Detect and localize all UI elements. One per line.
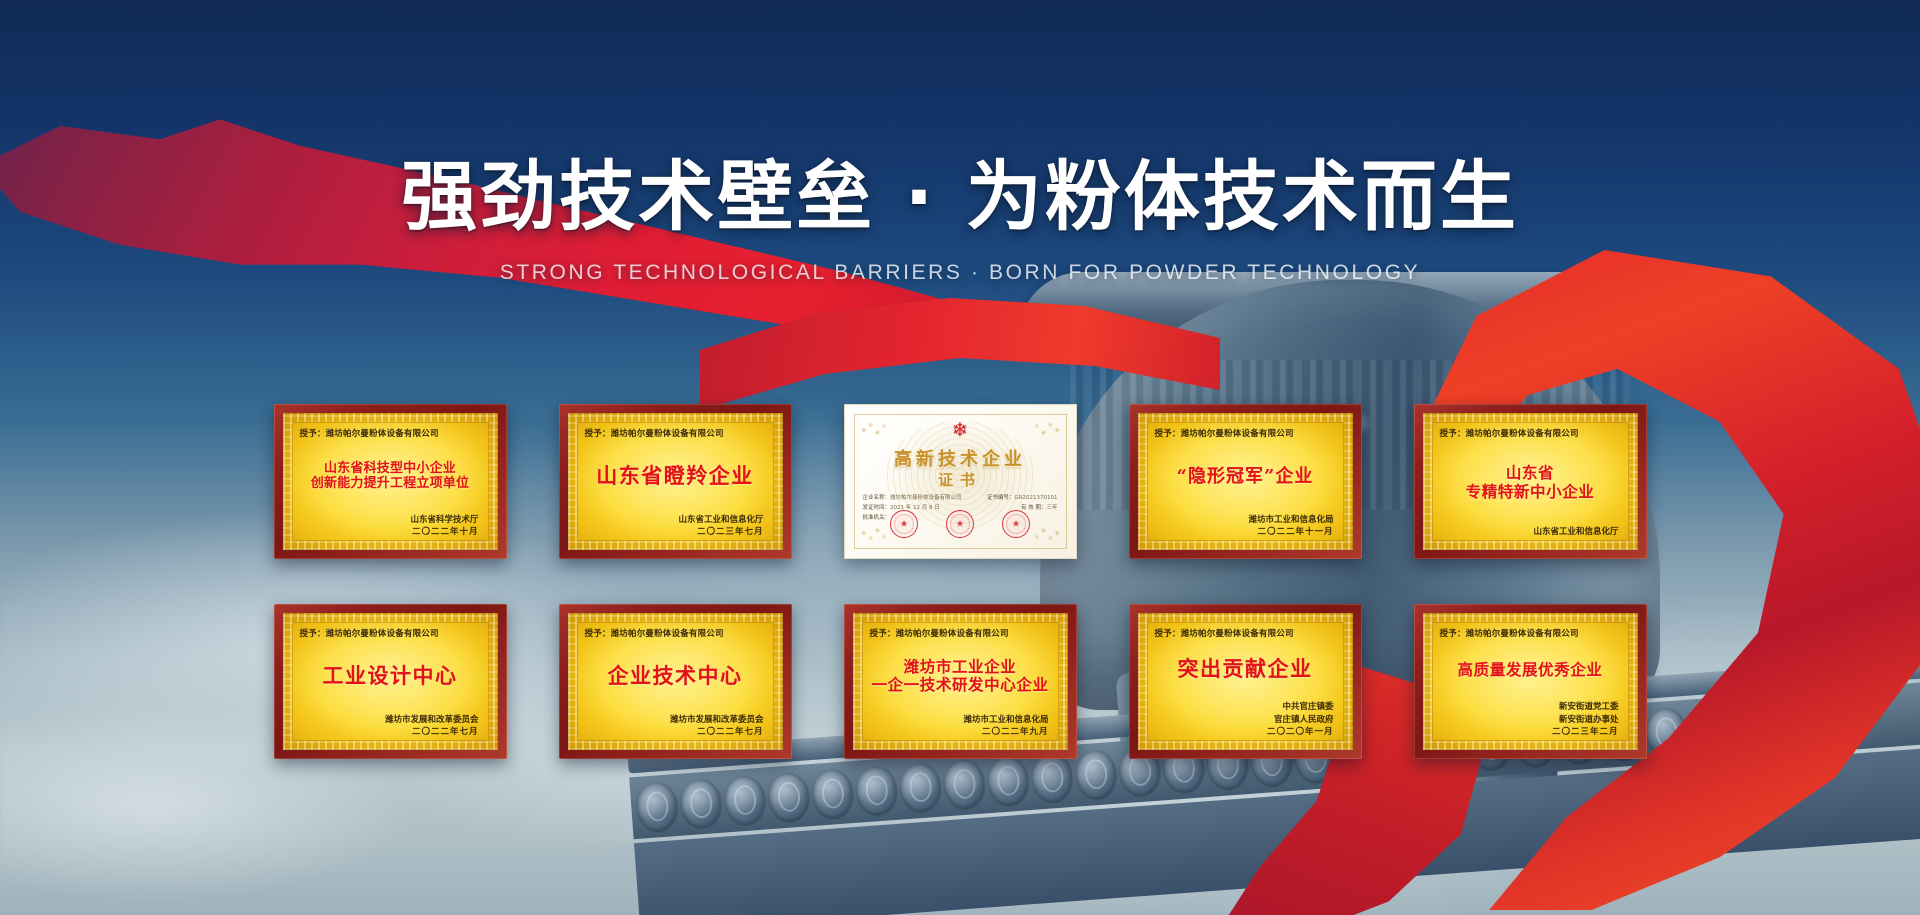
awards-gallery: 授予：潍坊帕尔曼粉体设备有限公司 山东省科技型中小企业 创新能力提升工程立项单位… <box>0 404 1920 759</box>
plaque-issuer-line-1: 潍坊市发展和改革委员会 <box>296 714 479 727</box>
plaque-title-line-1: 企业技术中心 <box>608 664 743 689</box>
medallion-carving <box>811 768 854 819</box>
plaque-issuer-line-1: 潍坊市发展和改革委员会 <box>581 714 764 727</box>
page-subtitle: STRONG TECHNOLOGICAL BARRIERS · BORN FOR… <box>0 261 1920 285</box>
plaque-title: 高质量发展优秀企业 <box>1436 639 1625 701</box>
medallion-carving <box>899 762 942 813</box>
plaque-issuer-line-1: 潍坊市工业和信息化局 <box>1151 514 1334 527</box>
certificate-title: 高新技术企业 <box>845 445 1076 471</box>
plaque-issuer-line-1: 潍坊市工业和信息化局 <box>866 714 1049 727</box>
field-certificate-number: 证书编号：GR2021370101 <box>987 493 1058 503</box>
plaque-title-line-1: 潍坊市工业企业 <box>904 658 1017 676</box>
medallion-carving <box>943 758 986 809</box>
plaque-title: 突出贡献企业 <box>1151 639 1340 701</box>
certificate-subtitle: 证书 <box>845 469 1076 490</box>
award-plaque[interactable]: 授予：潍坊帕尔曼粉体设备有限公司 山东省 专精特新中小企业 山东省工业和信息化厅 <box>1414 404 1647 559</box>
plaque-title-line-1: 山东省科技型中小企业 <box>324 461 456 476</box>
plaque-issuer-line-2: 官庄镇人民政府 <box>1151 714 1334 727</box>
plaque-grant-line: 授予：潍坊帕尔曼粉体设备有限公司 <box>300 427 485 439</box>
plaque-issuer-line-1: 新安街道党工委 <box>1436 701 1619 714</box>
medallion-carving <box>636 781 679 832</box>
medallion-carving <box>723 775 766 826</box>
plaque-title-line-1: 山东省瞪羚企业 <box>596 464 754 489</box>
field-company-name: 企业名称：潍坊帕尔曼粉体设备有限公司 <box>863 493 962 503</box>
plaque-title-line-1: 工业设计中心 <box>323 664 458 689</box>
plaque-grant-line: 授予：潍坊帕尔曼粉体设备有限公司 <box>1440 627 1625 639</box>
plaque-title-line-1: 山东省 <box>1506 464 1554 482</box>
plaque-gold-plate: 授予：潍坊帕尔曼粉体设备有限公司 高质量发展优秀企业 新安街道党工委 新安街道办… <box>1423 613 1638 750</box>
award-plaque[interactable]: 授予：潍坊帕尔曼粉体设备有限公司 高质量发展优秀企业 新安街道党工委 新安街道办… <box>1414 604 1647 759</box>
page-title: 强劲技术壁垒 · 为粉体技术而生 <box>0 155 1920 239</box>
award-plaque[interactable]: 授予：潍坊帕尔曼粉体设备有限公司 山东省科技型中小企业 创新能力提升工程立项单位… <box>274 404 507 559</box>
plaque-title-line-2: 专精特新中小企业 <box>1466 483 1595 501</box>
medallion-carving <box>987 755 1030 806</box>
plaque-title-line-1: 高质量发展优秀企业 <box>1458 661 1603 679</box>
plaque-date: 二〇二二年七月 <box>581 726 764 739</box>
plaque-grant-line: 授予：潍坊帕尔曼粉体设备有限公司 <box>1155 427 1340 439</box>
plaque-date: 二〇二〇年一月 <box>1151 726 1334 739</box>
wheat-ornament-icon <box>1030 417 1064 443</box>
plaque-date: 二〇二二年十月 <box>296 526 479 539</box>
plaque-issuer-block: 山东省科学技术厅 二〇二二年十月 <box>296 514 479 540</box>
plaque-title: 企业技术中心 <box>581 639 770 714</box>
plaque-issuer-line-1: 山东省工业和信息化厅 <box>581 514 764 527</box>
plaque-issuer-block: 潍坊市工业和信息化局 二〇二二年九月 <box>866 714 1049 740</box>
award-plaque[interactable]: 授予：潍坊帕尔曼粉体设备有限公司 潍坊市工业企业 一企一技术研发中心企业 潍坊市… <box>844 604 1077 759</box>
plaque-gold-plate: 授予：潍坊帕尔曼粉体设备有限公司 工业设计中心 潍坊市发展和改革委员会 二〇二二… <box>283 613 498 750</box>
plaque-title: 山东省瞪羚企业 <box>581 439 770 514</box>
official-seal-icon <box>1002 510 1030 538</box>
plaque-title-line-1: 突出贡献企业 <box>1178 657 1313 682</box>
awards-row-top: 授予：潍坊帕尔曼粉体设备有限公司 山东省科技型中小企业 创新能力提升工程立项单位… <box>274 404 1647 559</box>
award-plaque[interactable]: 授予：潍坊帕尔曼粉体设备有限公司 工业设计中心 潍坊市发展和改革委员会 二〇二二… <box>274 604 507 759</box>
plaque-gold-plate: 授予：潍坊帕尔曼粉体设备有限公司 山东省 专精特新中小企业 山东省工业和信息化厅 <box>1423 413 1638 550</box>
plaque-issuer-block: 山东省工业和信息化厅 <box>1436 526 1619 539</box>
plaque-gold-plate: 授予：潍坊帕尔曼粉体设备有限公司 突出贡献企业 中共官庄镇委 官庄镇人民政府 二… <box>1138 613 1353 750</box>
awards-row-bottom: 授予：潍坊帕尔曼粉体设备有限公司 工业设计中心 潍坊市发展和改革委员会 二〇二二… <box>274 604 1647 759</box>
plaque-title: 潍坊市工业企业 一企一技术研发中心企业 <box>866 639 1055 714</box>
award-plaque[interactable]: 授予：潍坊帕尔曼粉体设备有限公司 突出贡献企业 中共官庄镇委 官庄镇人民政府 二… <box>1129 604 1362 759</box>
plaque-issuer-block: 潍坊市发展和改革委员会 二〇二二年七月 <box>581 714 764 740</box>
medallion-carving <box>1031 752 1074 803</box>
plaque-grant-line: 授予：潍坊帕尔曼粉体设备有限公司 <box>870 627 1055 639</box>
flame-emblem-icon: ❄ <box>952 421 968 440</box>
award-plaque[interactable]: 授予：潍坊帕尔曼粉体设备有限公司 山东省瞪羚企业 山东省工业和信息化厅 二〇二三… <box>559 404 792 559</box>
plaque-date: 二〇二三年二月 <box>1436 726 1619 739</box>
plaque-gold-plate: 授予：潍坊帕尔曼粉体设备有限公司 企业技术中心 潍坊市发展和改革委员会 二〇二二… <box>568 613 783 750</box>
medallion-carving <box>767 771 810 822</box>
plaque-title: 山东省科技型中小企业 创新能力提升工程立项单位 <box>296 439 485 514</box>
plaque-issuer-line-1: 中共官庄镇委 <box>1151 701 1334 714</box>
plaque-issuer-line-1: 山东省工业和信息化厅 <box>1436 526 1619 539</box>
plaque-issuer-line-1: 山东省科学技术厅 <box>296 514 479 527</box>
plaque-title: 山东省 专精特新中小企业 <box>1436 439 1625 526</box>
wheat-ornament-icon <box>857 417 891 443</box>
plaque-gold-plate: 授予：潍坊帕尔曼粉体设备有限公司 山东省科技型中小企业 创新能力提升工程立项单位… <box>283 413 498 550</box>
plaque-gold-plate: 授予：潍坊帕尔曼粉体设备有限公司 山东省瞪羚企业 山东省工业和信息化厅 二〇二三… <box>568 413 783 550</box>
medallion-carving <box>680 778 723 829</box>
plaque-title-line-1: “隐形冠军”企业 <box>1177 466 1314 487</box>
banner-stage: 强劲技术壁垒 · 为粉体技术而生 STRONG TECHNOLOGICAL BA… <box>0 0 1920 915</box>
certificate-seal-row <box>845 510 1076 538</box>
plaque-date: 二〇二二年九月 <box>866 726 1049 739</box>
plaque-title-line-2: 创新能力提升工程立项单位 <box>311 476 469 491</box>
plaque-title-line-2: 一企一技术研发中心企业 <box>871 676 1048 694</box>
plaque-grant-line: 授予：潍坊帕尔曼粉体设备有限公司 <box>300 627 485 639</box>
plaque-grant-line: 授予：潍坊帕尔曼粉体设备有限公司 <box>585 627 770 639</box>
plaque-gold-plate: 授予：潍坊帕尔曼粉体设备有限公司 潍坊市工业企业 一企一技术研发中心企业 潍坊市… <box>853 613 1068 750</box>
plaque-issuer-block: 中共官庄镇委 官庄镇人民政府 二〇二〇年一月 <box>1151 701 1334 739</box>
high-tech-enterprise-certificate[interactable]: ❄ 高新技术企业 证书 企业名称：潍坊帕尔曼粉体设备有限公司 证书编号：GR20… <box>844 404 1077 559</box>
plaque-issuer-block: 潍坊市工业和信息化局 二〇二二年十一月 <box>1151 514 1334 540</box>
plaque-date: 二〇二三年七月 <box>581 526 764 539</box>
plaque-issuer-block: 潍坊市发展和改革委员会 二〇二二年七月 <box>296 714 479 740</box>
plaque-title: “隐形冠军”企业 <box>1151 439 1340 514</box>
medallion-carving <box>855 765 898 816</box>
plaque-issuer-block: 山东省工业和信息化厅 二〇二三年七月 <box>581 514 764 540</box>
official-seal-icon <box>890 510 918 538</box>
official-seal-icon <box>946 510 974 538</box>
award-plaque[interactable]: 授予：潍坊帕尔曼粉体设备有限公司 企业技术中心 潍坊市发展和改革委员会 二〇二二… <box>559 604 792 759</box>
plaque-date: 二〇二二年十一月 <box>1151 526 1334 539</box>
plaque-issuer-line-2: 新安街道办事处 <box>1436 714 1619 727</box>
award-plaque[interactable]: 授予：潍坊帕尔曼粉体设备有限公司 “隐形冠军”企业 潍坊市工业和信息化局 二〇二… <box>1129 404 1362 559</box>
plaque-issuer-block: 新安街道党工委 新安街道办事处 二〇二三年二月 <box>1436 701 1619 739</box>
plaque-grant-line: 授予：潍坊帕尔曼粉体设备有限公司 <box>1155 627 1340 639</box>
plaque-date: 二〇二二年七月 <box>296 726 479 739</box>
plaque-grant-line: 授予：潍坊帕尔曼粉体设备有限公司 <box>1440 427 1625 439</box>
plaque-title: 工业设计中心 <box>296 639 485 714</box>
plaque-grant-line: 授予：潍坊帕尔曼粉体设备有限公司 <box>585 427 770 439</box>
plaque-gold-plate: 授予：潍坊帕尔曼粉体设备有限公司 “隐形冠军”企业 潍坊市工业和信息化局 二〇二… <box>1138 413 1353 550</box>
banner-heading-block: 强劲技术壁垒 · 为粉体技术而生 STRONG TECHNOLOGICAL BA… <box>0 155 1920 285</box>
